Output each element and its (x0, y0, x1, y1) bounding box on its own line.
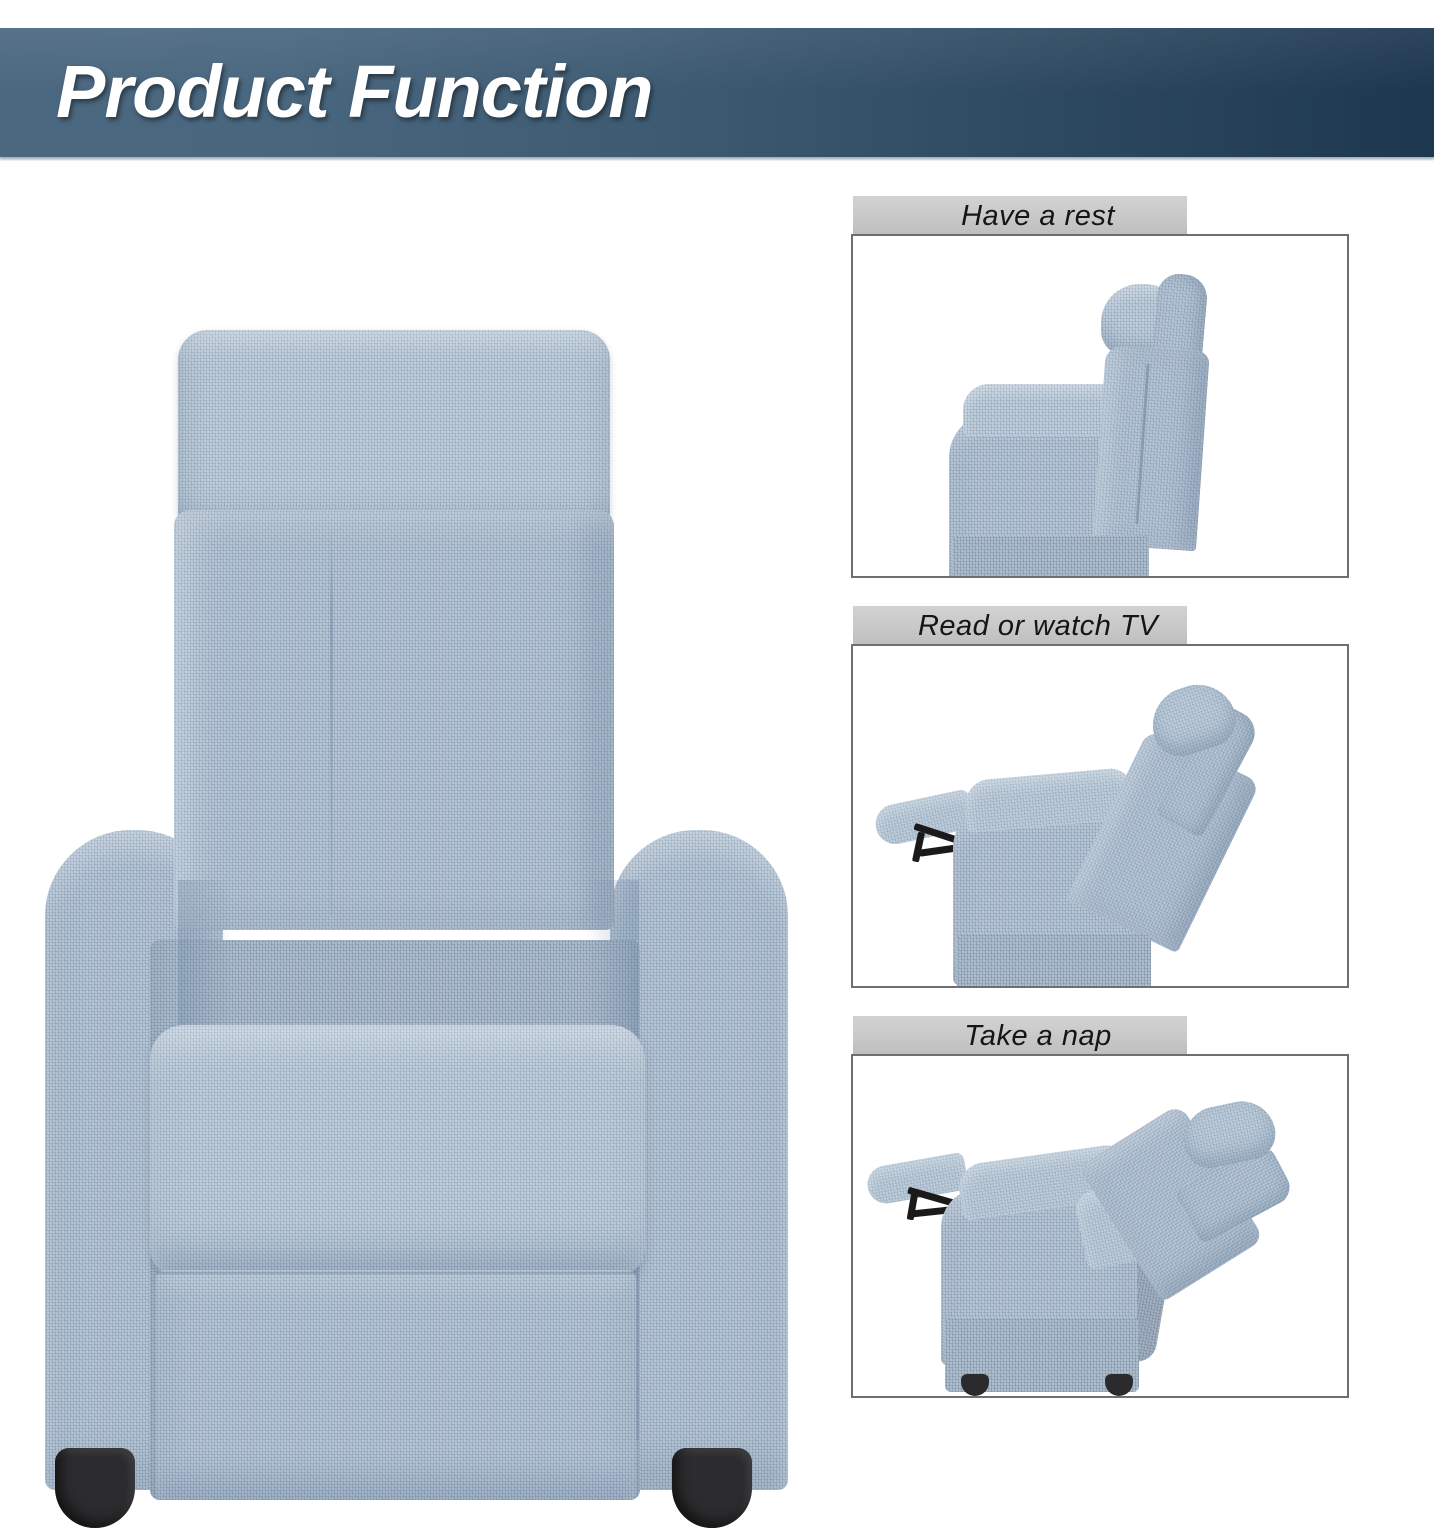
side-arm-top (963, 384, 1123, 436)
chair-front-base-panel (156, 1270, 636, 1500)
page-title: Product Function (56, 48, 653, 133)
panel-label-text: Read or watch TV (918, 610, 1158, 643)
panel-label-tab: Read or watch TV (853, 606, 1187, 646)
chair-front-seam (156, 1272, 636, 1276)
recliner-side-view-reclined (853, 646, 1347, 986)
panel-label-text: Have a rest (961, 200, 1115, 233)
recliner-chair-front-view (0, 180, 828, 1434)
side-base (957, 934, 1151, 986)
recliner-side-view-upright (853, 236, 1347, 576)
chair-foot-left (55, 1448, 135, 1528)
hero-product-image (0, 180, 828, 1434)
chair-foot-right (672, 1448, 752, 1528)
side-base (953, 536, 1149, 576)
banner-underline (0, 157, 1434, 161)
panel-image-frame (851, 234, 1349, 578)
side-foot-front (961, 1374, 989, 1396)
panel-image-frame (851, 1054, 1349, 1398)
recliner-side-view-flat (853, 1056, 1347, 1396)
panel-image-frame (851, 644, 1349, 988)
chair-seat-cushion (150, 1025, 645, 1275)
function-panel-read-or-watch-tv: Read or watch TV (851, 606, 1347, 986)
panel-label-tab: Take a nap (853, 1016, 1187, 1056)
side-foot-back (1105, 1374, 1133, 1396)
header-banner: Product Function (0, 28, 1434, 157)
panel-label-text: Take a nap (964, 1020, 1111, 1053)
function-panel-take-a-nap: Take a nap (851, 1016, 1347, 1396)
chair-backrest (174, 510, 614, 930)
function-panel-have-a-rest: Have a rest (851, 196, 1347, 576)
chair-headrest (178, 330, 610, 535)
panel-label-tab: Have a rest (853, 196, 1187, 236)
side-backrest (1092, 345, 1210, 552)
chair-back-seam (330, 525, 333, 915)
